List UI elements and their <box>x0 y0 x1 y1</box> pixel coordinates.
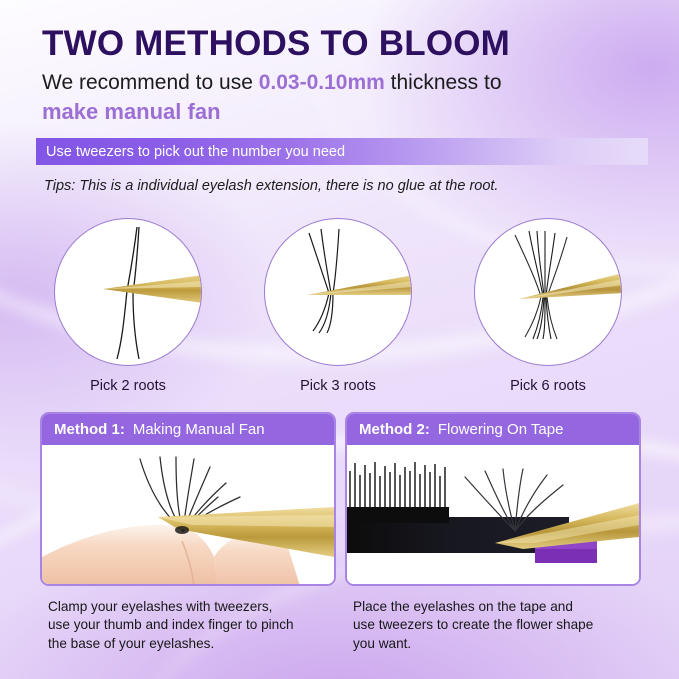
pick-roots-label-6: Pick 6 roots <box>468 378 628 394</box>
pick-roots-label-2: Pick 2 roots <box>48 378 208 394</box>
tweezer-illustration-2-roots <box>54 218 202 366</box>
subtitle-line-1: We recommend to use 0.03-0.10mm thicknes… <box>42 70 502 96</box>
pick-roots-item-3: Pick 3 roots <box>258 218 418 394</box>
method-2-name: Flowering On Tape <box>438 421 564 438</box>
tips-note: Tips: This is a individual eyelash exten… <box>44 178 498 194</box>
subtitle-text-after: thickness to <box>385 71 502 94</box>
method-2-caption: Place the eyelashes on the tape and use … <box>353 598 653 653</box>
subtitle-text-before: We recommend to use <box>42 71 259 94</box>
tweezer-illustration-6-roots <box>474 218 622 366</box>
subtitle-line-2: make manual fan <box>42 99 221 125</box>
method-2-photo <box>347 445 639 586</box>
instruction-banner: Use tweezers to pick out the number you … <box>36 138 648 165</box>
tweezer-illustration-3-roots <box>264 218 412 366</box>
pick-roots-item-6: Pick 6 roots <box>468 218 628 394</box>
method-1-name: Making Manual Fan <box>133 421 265 438</box>
instruction-banner-label: Use tweezers to pick out the number you … <box>46 144 345 160</box>
method-1-header: Method 1: Making Manual Fan <box>42 414 334 445</box>
tweezer-2-roots-svg <box>55 219 202 366</box>
method-card-2: Method 2: Flowering On Tape <box>345 412 641 586</box>
tweezer-6-roots-svg <box>475 219 622 366</box>
promo-infographic: TWO METHODS TO BLOOM We recommend to use… <box>0 0 679 679</box>
method-1-caption: Clamp your eyelashes with tweezers, use … <box>48 598 348 653</box>
method-1-number: Method 1: <box>54 421 125 438</box>
manual-fan-photo-svg <box>42 445 334 586</box>
subtitle-thickness-highlight: 0.03-0.10mm <box>259 71 385 94</box>
method-1-photo <box>42 445 334 586</box>
method-2-header: Method 2: Flowering On Tape <box>347 414 639 445</box>
flowering-on-tape-photo-svg <box>347 445 639 586</box>
method-card-1: Method 1: Making Manual Fan <box>40 412 336 586</box>
method-2-number: Method 2: <box>359 421 430 438</box>
pick-roots-label-3: Pick 3 roots <box>258 378 418 394</box>
pick-roots-item-2: Pick 2 roots <box>48 218 208 394</box>
page-title: TWO METHODS TO BLOOM <box>42 24 510 64</box>
tweezer-3-roots-svg <box>265 219 412 366</box>
